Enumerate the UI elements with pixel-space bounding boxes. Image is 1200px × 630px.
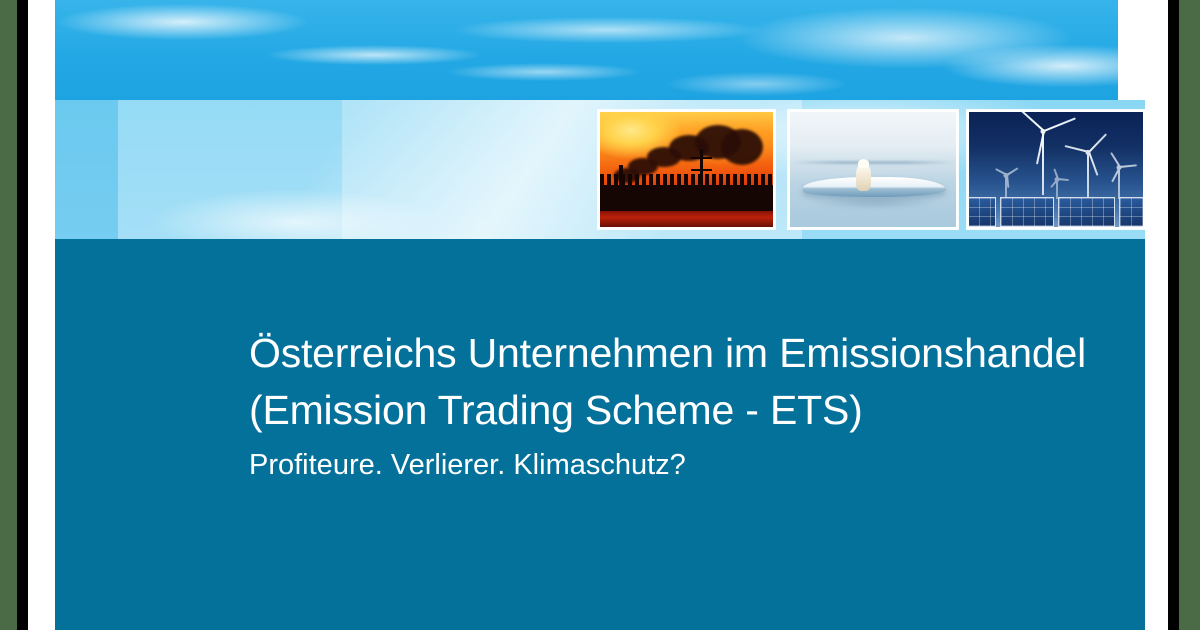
wind-turbine-primary [1025, 129, 1061, 195]
turbine-hub [1117, 165, 1122, 170]
horizon-line [790, 161, 956, 164]
wind-turbine-distant-right [1108, 165, 1130, 199]
turbine-hub [1003, 173, 1008, 178]
sky-panel-column-1 [55, 100, 118, 239]
frame-border-left [17, 0, 28, 630]
polar-bear-ice-floe-photo [788, 110, 958, 229]
wind-turbine-distant-left [997, 173, 1015, 199]
smoke-plume-6 [721, 129, 763, 165]
slide-page: Österreichs Unternehmen im Emissionshand… [28, 0, 1168, 630]
slide-content: Österreichs Unternehmen im Emissionshand… [55, 0, 1145, 630]
turbine-blade [1088, 152, 1098, 176]
slide-subtitle: Profiteure. Verlierer. Klimaschutz? [249, 443, 1099, 487]
wind-turbine-secondary [1073, 150, 1103, 198]
wind-turbines-solar-panels-photo [967, 110, 1145, 229]
ice-floe [803, 177, 946, 197]
title-band: Österreichs Unternehmen im Emissionshand… [55, 239, 1145, 630]
solar-panel [1058, 197, 1115, 227]
turbine-hub [1086, 150, 1091, 155]
sky-banner-upper [55, 0, 1118, 100]
polar-bear [856, 163, 871, 191]
title-block: Österreichs Unternehmen im Emissionshand… [249, 325, 1099, 487]
solar-panel [1119, 197, 1143, 227]
slide-title-line-1: Österreichs Unternehmen im Emissionshand… [249, 325, 1099, 382]
ice-floe-shadow [813, 197, 936, 209]
solar-panel [969, 197, 996, 227]
arctic-sea-background [790, 112, 956, 227]
solar-panel-row [969, 197, 1143, 227]
sky-panel-column-2 [118, 100, 342, 239]
industrial-smokestack-sunset-photo [598, 110, 775, 229]
water-reflection [600, 211, 773, 227]
frame-border-right [1168, 0, 1179, 630]
screenshot-viewport: Österreichs Unternehmen im Emissionshand… [0, 0, 1200, 630]
slide-title-line-2: (Emission Trading Scheme - ETS) [249, 382, 1099, 439]
turbine-hub [1040, 129, 1045, 134]
solar-panel [1000, 197, 1054, 227]
